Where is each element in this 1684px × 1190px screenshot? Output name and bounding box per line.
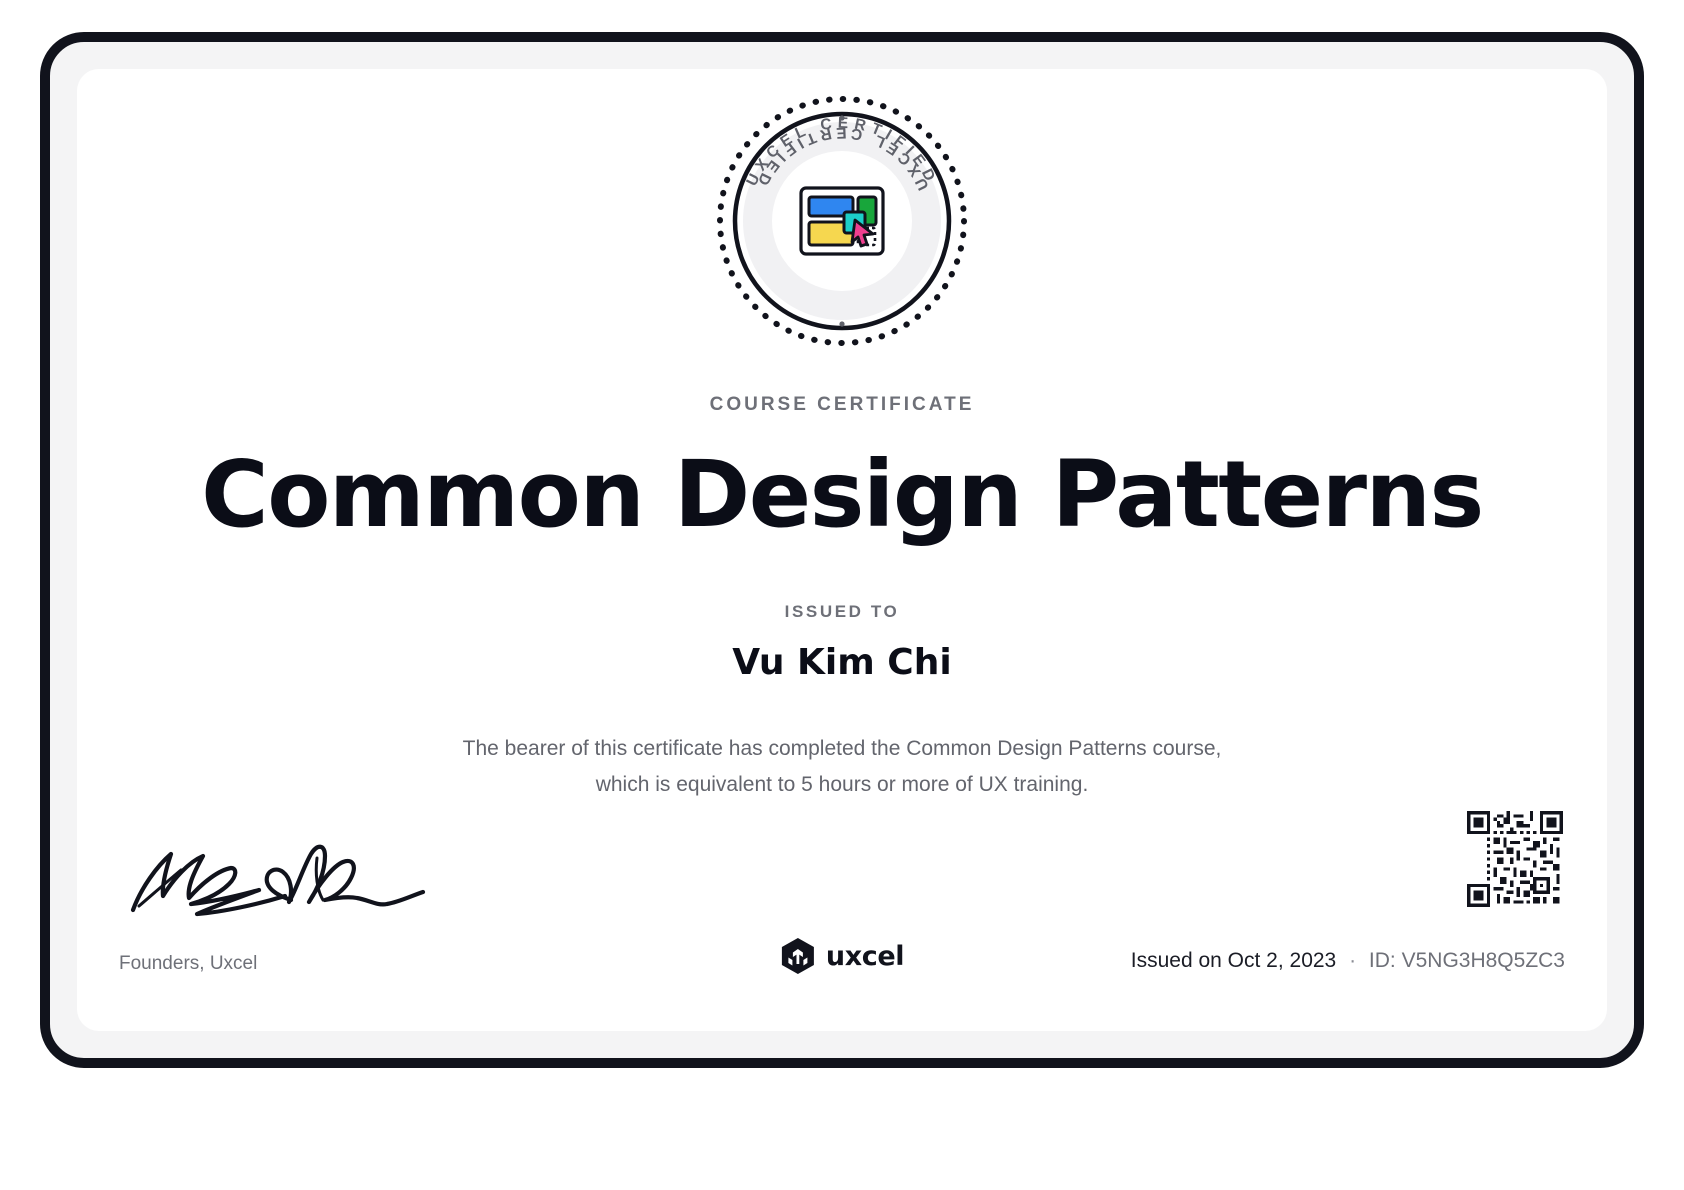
certificate-description: The bearer of this certificate has compl… xyxy=(462,731,1222,803)
recipient-name: Vu Kim Chi xyxy=(77,642,1607,683)
design-patterns-icon xyxy=(799,186,885,256)
verification-qr-code[interactable] xyxy=(1467,811,1563,907)
uxcel-brand: uxcel xyxy=(780,937,904,975)
issued-on-date: Issued on Oct 2, 2023 xyxy=(1131,949,1336,972)
certificate-body: UXCEL CERTIFIED UXCEL CERTIFIED xyxy=(77,69,1607,1031)
signatures xyxy=(119,814,449,924)
seal-bullet-bottom xyxy=(839,321,844,326)
meta-separator: · xyxy=(1349,949,1356,972)
uxcel-hexagon-logo-icon xyxy=(780,937,816,975)
uxcel-brand-name: uxcel xyxy=(826,941,904,972)
issued-to-label: ISSUED TO xyxy=(77,602,1607,622)
uxcel-certified-seal: UXCEL CERTIFIED UXCEL CERTIFIED xyxy=(712,91,972,351)
certificate-id: ID: V5NG3H8Q5ZC3 xyxy=(1369,949,1565,972)
certificate-kicker: COURSE CERTIFICATE xyxy=(77,394,1607,416)
seal-bullet-top xyxy=(839,115,844,120)
signature-caption: Founders, Uxcel xyxy=(119,953,257,975)
signature-ink xyxy=(119,814,449,924)
page-title: Common Design Patterns xyxy=(77,441,1607,549)
issue-metadata: Issued on Oct 2, 2023 · ID: V5NG3H8Q5ZC3 xyxy=(1131,949,1565,973)
certificate-frame: UXCEL CERTIFIED UXCEL CERTIFIED xyxy=(40,32,1644,1068)
